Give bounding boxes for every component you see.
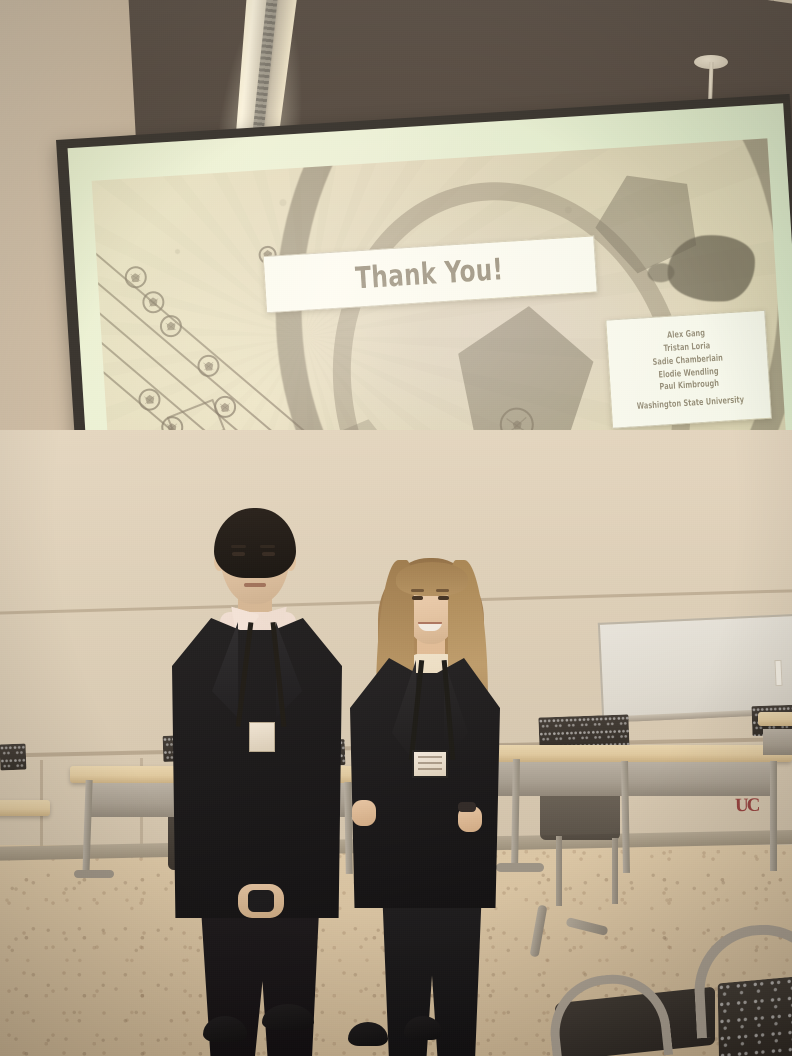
eye [412, 596, 423, 600]
presenter-right [330, 550, 515, 1056]
table-foot [74, 870, 114, 878]
table-leg [770, 761, 777, 871]
presentation-clicker [248, 890, 274, 912]
suit-jacket [172, 618, 342, 918]
eyebrow [231, 545, 246, 548]
table-left-edge [0, 800, 50, 816]
foreground-chair [690, 925, 792, 1056]
photograph-scene: Thank You! Alex Gang Tristan Loria Sadie… [0, 0, 792, 1056]
slide-authors-box: Alex Gang Tristan Loria Sadie Chamberlai… [606, 310, 772, 430]
eye [438, 596, 449, 600]
name-badge [249, 722, 275, 752]
table-leg [82, 780, 92, 875]
eyebrow [436, 589, 449, 592]
wristband [458, 802, 476, 812]
eye [232, 552, 245, 556]
eye [262, 552, 275, 556]
table-top [758, 712, 792, 726]
chair [0, 744, 26, 771]
hair-bangs [396, 562, 468, 596]
chair-back [0, 744, 26, 771]
table-uc-logo: UC [735, 795, 759, 817]
hair [214, 508, 296, 578]
mouth [244, 583, 266, 587]
table-modesty-panel [763, 729, 792, 755]
whiteboard-marker [774, 660, 782, 686]
slide-title: Thank You! [355, 252, 505, 296]
eyebrow [260, 545, 275, 548]
eyebrow [411, 589, 424, 592]
table-top [0, 800, 50, 816]
table-far-right [758, 712, 792, 772]
hand [352, 800, 376, 826]
chair-frame-rail [545, 969, 673, 1056]
blazer [350, 658, 500, 908]
chair-back [718, 970, 792, 1056]
presenter-left [150, 500, 350, 1056]
affiliation: Washington State University [629, 394, 752, 414]
name-badge [412, 750, 448, 778]
